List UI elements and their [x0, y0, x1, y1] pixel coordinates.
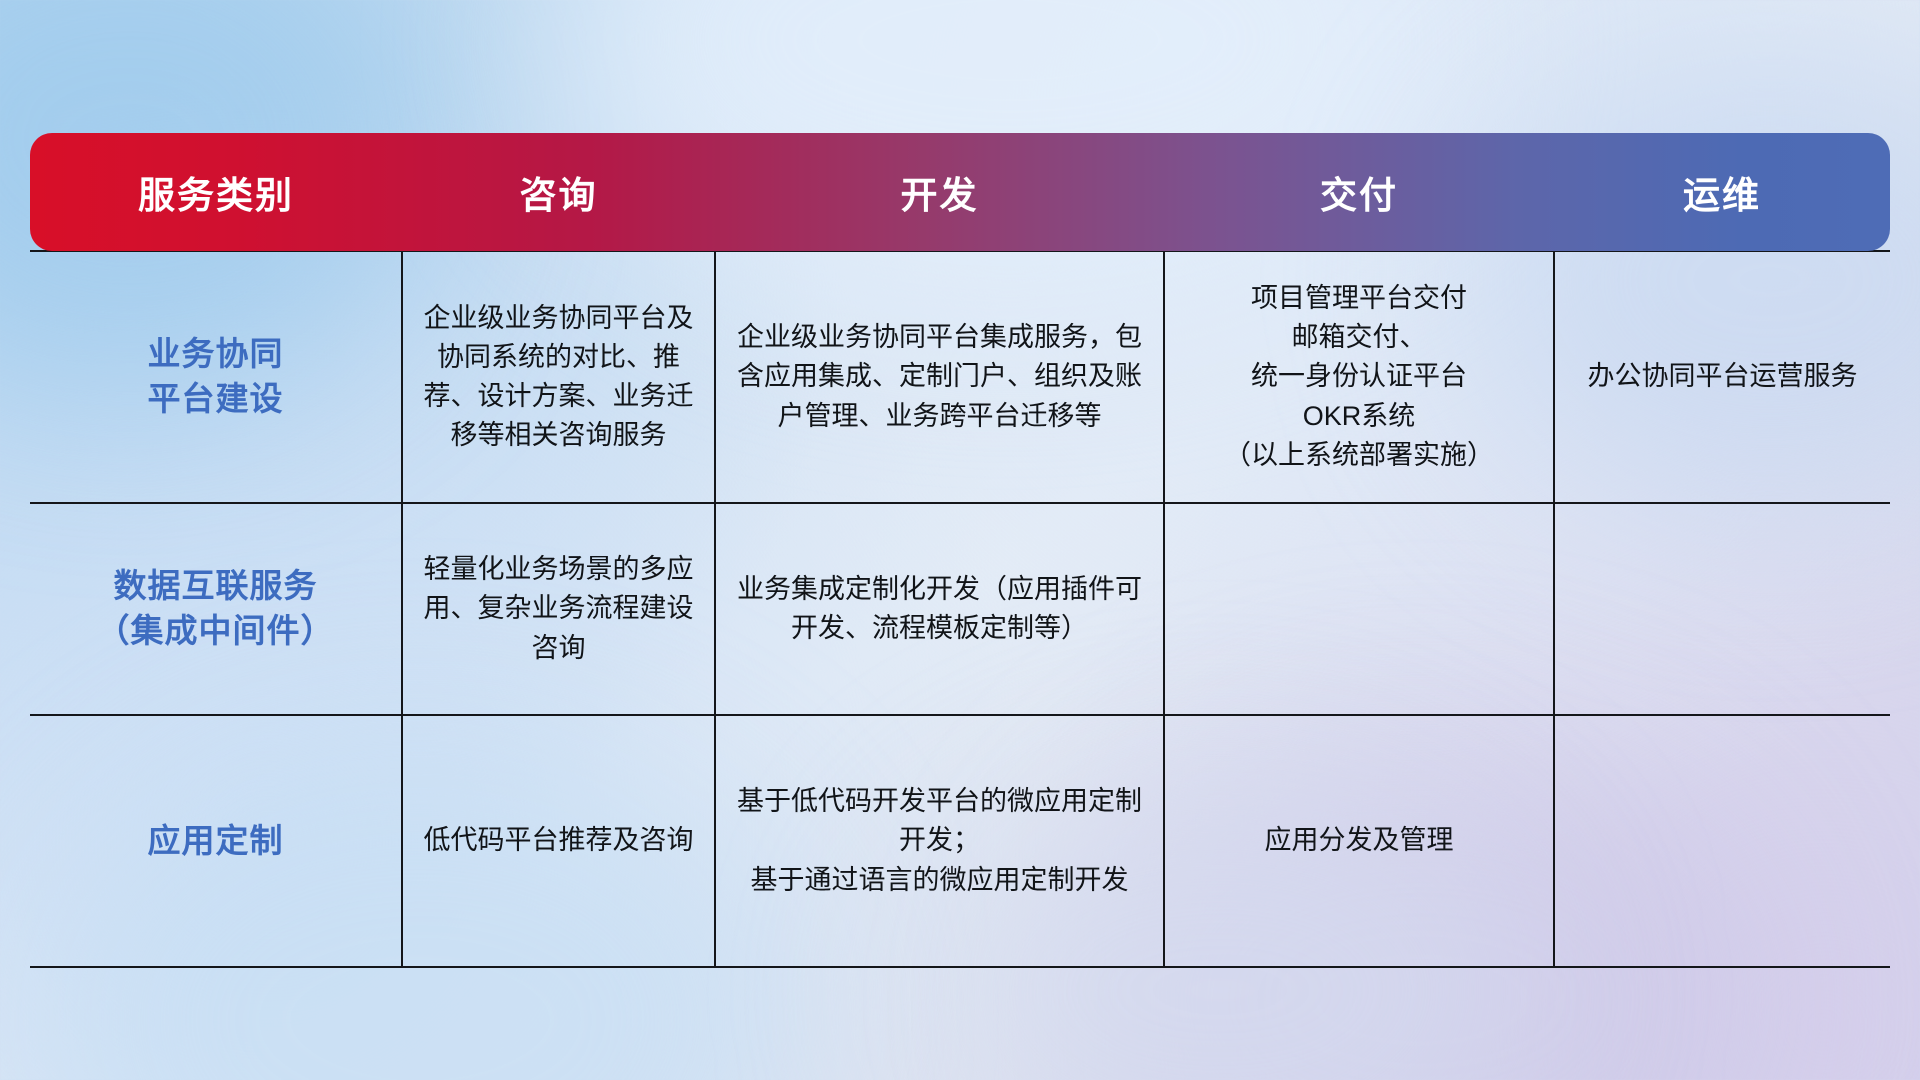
cell-consulting-3: 低代码平台推荐及咨询 [402, 715, 715, 967]
column-header-development: 开发 [715, 133, 1164, 251]
table-row: 数据互联服务 （集成中间件） 轻量化业务场景的多应用、复杂业务流程建设咨询 业务… [30, 503, 1890, 715]
table-body: 业务协同 平台建设 企业级业务协同平台及协同系统的对比、推荐、设计方案、业务迁移… [30, 251, 1890, 967]
cell-delivery-3: 应用分发及管理 [1164, 715, 1554, 967]
cell-development-3: 基于低代码开发平台的微应用定制开发； 基于通过语言的微应用定制开发 [715, 715, 1164, 967]
column-header-ops: 运维 [1554, 133, 1890, 251]
table-header-row: 服务类别 咨询 开发 交付 运维 [30, 133, 1890, 251]
cell-consulting-1: 企业级业务协同平台及协同系统的对比、推荐、设计方案、业务迁移等相关咨询服务 [402, 251, 715, 503]
column-header-category: 服务类别 [30, 133, 402, 251]
cell-development-1: 企业级业务协同平台集成服务，包含应用集成、定制门户、组织及账户管理、业务跨平台迁… [715, 251, 1164, 503]
cell-delivery-2 [1164, 503, 1554, 715]
cell-consulting-2: 轻量化业务场景的多应用、复杂业务流程建设咨询 [402, 503, 715, 715]
cell-category-2: 数据互联服务 （集成中间件） [30, 503, 402, 715]
cell-ops-2 [1554, 503, 1890, 715]
slide-canvas: 服务类别 咨询 开发 交付 运维 业务协同 平台建设 企业级业务协同平台及协同系… [0, 0, 1920, 1080]
table-row: 业务协同 平台建设 企业级业务协同平台及协同系统的对比、推荐、设计方案、业务迁移… [30, 251, 1890, 503]
cell-ops-1: 办公协同平台运营服务 [1554, 251, 1890, 503]
cell-category-1: 业务协同 平台建设 [30, 251, 402, 503]
service-matrix-table: 服务类别 咨询 开发 交付 运维 业务协同 平台建设 企业级业务协同平台及协同系… [30, 133, 1890, 968]
cell-ops-3 [1554, 715, 1890, 967]
cell-delivery-1: 项目管理平台交付 邮箱交付、 统一身份认证平台 OKR系统 （以上系统部署实施） [1164, 251, 1554, 503]
table-header: 服务类别 咨询 开发 交付 运维 [30, 133, 1890, 251]
column-header-consulting: 咨询 [402, 133, 715, 251]
cell-category-3: 应用定制 [30, 715, 402, 967]
cell-development-2: 业务集成定制化开发（应用插件可开发、流程模板定制等） [715, 503, 1164, 715]
column-header-delivery: 交付 [1164, 133, 1554, 251]
table-row: 应用定制 低代码平台推荐及咨询 基于低代码开发平台的微应用定制开发； 基于通过语… [30, 715, 1890, 967]
service-matrix-table-wrapper: 服务类别 咨询 开发 交付 运维 业务协同 平台建设 企业级业务协同平台及协同系… [30, 133, 1890, 968]
